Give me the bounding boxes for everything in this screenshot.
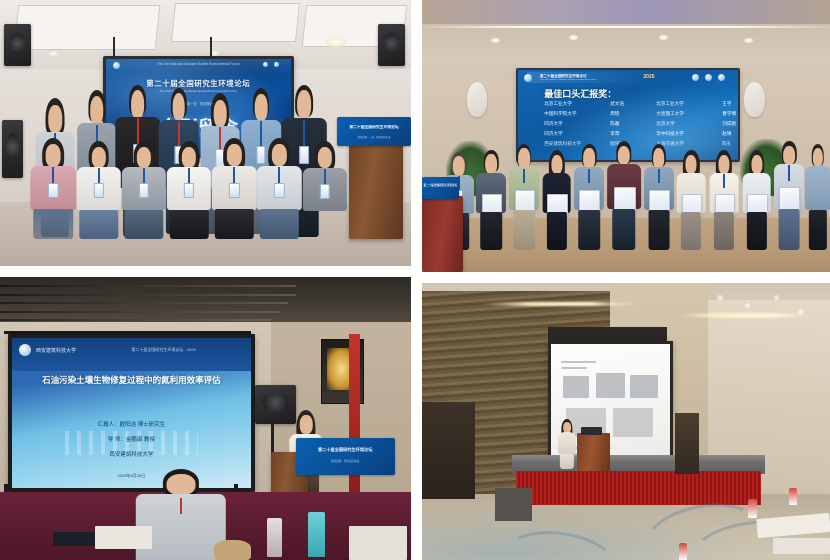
podium-sign-subtitle: 绿色低碳 · 一流 · 同创美好未来 xyxy=(337,135,411,139)
award-org: 北京大学 xyxy=(656,121,722,127)
award-row: 中国科学院大学 周瑶 大连理工大学 曹学博 xyxy=(544,111,736,117)
ceiling-panel xyxy=(171,3,300,42)
photo-bottom-left[interactable]: 西安建筑科技大学 第二十届全国研究生环境论坛 · 2025 石油污染土壤生物修复… xyxy=(0,277,411,560)
slide-title: 石油污染土壤生物修复过程中的氮利用效率评估 xyxy=(12,374,250,386)
paper-stack xyxy=(349,526,407,560)
slide-header xyxy=(12,338,250,371)
award-org: 同济大学 xyxy=(544,131,610,137)
award-org: 大连理工大学 xyxy=(656,111,722,117)
podium xyxy=(577,433,610,472)
slide-figure xyxy=(630,375,658,398)
ceiling-light-strip xyxy=(422,26,830,28)
award-row: 同济大学 李萍 华中科技大学 赵琳 xyxy=(544,131,731,137)
ceiling-spotlight xyxy=(716,294,724,302)
stage-steps xyxy=(495,488,532,521)
slide-figure xyxy=(613,408,653,437)
award-name: 王宇 xyxy=(722,101,731,107)
slide-figure xyxy=(563,376,589,398)
person-standing xyxy=(740,150,773,251)
podium xyxy=(422,196,463,272)
award-org: 中国科学院大学 xyxy=(544,111,610,117)
person-front-row xyxy=(210,138,259,239)
podium-sign-title: 第二十届全国研究生环境论坛 xyxy=(337,125,411,130)
slide-figure xyxy=(596,373,624,397)
person-front-row xyxy=(29,138,78,239)
person-standing xyxy=(803,144,830,250)
award-title: 最佳口头汇报奖： xyxy=(544,87,616,100)
wall-speaker xyxy=(467,82,487,117)
person-standing xyxy=(675,150,708,251)
slide-advisor: 导 师：金鹏康 教授 xyxy=(12,435,250,443)
person-front-row xyxy=(255,138,304,239)
water-bottle xyxy=(748,499,756,518)
award-org: 北京工业大学 xyxy=(656,101,722,107)
water-bottle xyxy=(789,488,797,505)
award-org: 华中科技大学 xyxy=(656,131,722,137)
upper-ceiling-strip xyxy=(422,0,830,24)
person-standing xyxy=(708,150,741,251)
screen-housing xyxy=(548,327,666,341)
award-org: 北京工业大学 xyxy=(544,101,610,107)
screen-frame-top xyxy=(4,331,251,334)
screen-header-sub: The 20th National Graduate Student Envir… xyxy=(540,79,650,81)
podium-sign: 第二十届全国研究生环境论坛 xyxy=(422,177,459,199)
university-logo-icon xyxy=(19,344,31,356)
award-name: 陈磊 xyxy=(610,121,656,127)
person-front-row xyxy=(164,141,213,239)
wall-speaker xyxy=(744,82,764,117)
award-name: 陈礼 xyxy=(722,141,731,147)
person-standing xyxy=(606,141,643,250)
laptop-on-podium xyxy=(581,427,601,435)
doorway xyxy=(422,402,475,499)
podium-sign-title: 第二十届全国研究生环境论坛 xyxy=(422,183,459,187)
ceiling-speaker xyxy=(4,24,31,67)
paper-documents xyxy=(95,526,153,549)
award-name: 曹学博 xyxy=(722,111,736,117)
award-name: 刘成刚 xyxy=(722,121,736,127)
ceiling-speaker xyxy=(378,24,405,67)
award-name: 周瑶 xyxy=(610,111,656,117)
water-bottle xyxy=(267,518,281,558)
floor-speaker xyxy=(2,120,23,179)
water-bottle xyxy=(679,543,687,560)
photo-top-right[interactable]: 第二十届全国研究生环境论坛 The 20th National Graduate… xyxy=(422,0,830,272)
chair-back xyxy=(214,540,251,560)
photo-collage: The 20th National Graduate Student Envir… xyxy=(0,0,830,560)
award-row: 北京工业大学 武文浩 北京工业大学 王宇 xyxy=(544,101,731,107)
ceiling-downlight xyxy=(49,51,58,56)
sponsor-logo-icon xyxy=(705,74,712,81)
sponsor-logo-icon xyxy=(692,74,699,81)
projection-screen: 西安建筑科技大学 第二十届全国研究生环境论坛 · 2025 石油污染土壤生物修复… xyxy=(8,334,254,492)
thermos-bottle xyxy=(308,512,324,557)
podium-sign-title: 第二十届全国研究生环境论坛 xyxy=(296,447,395,453)
photo-bottom-right[interactable] xyxy=(422,283,830,560)
award-name: 李萍 xyxy=(610,131,656,137)
person-standing xyxy=(573,144,606,250)
stage-skirt xyxy=(516,471,761,504)
ceiling xyxy=(0,277,411,325)
slide-session: 第二十届全国研究生环境论坛 · 2025 xyxy=(131,347,245,353)
screen-header-year: 2025 xyxy=(643,74,669,80)
person-front-row xyxy=(119,141,168,239)
person-standing xyxy=(773,141,806,250)
person-presenter xyxy=(557,419,577,469)
award-org: 同济大学 xyxy=(544,121,610,127)
doorway xyxy=(675,413,699,474)
podium-sign-subtitle: 绿色低碳 · 同创美好未来 xyxy=(296,459,395,463)
table-documents xyxy=(773,538,830,555)
screen-header-sub: The 20th National Graduate Student Envir… xyxy=(106,62,291,66)
award-row: 同济大学 陈磊 北京大学 刘成刚 xyxy=(544,121,736,127)
sponsor-logo-icon xyxy=(718,74,725,81)
person-front-row xyxy=(300,141,349,239)
podium xyxy=(349,141,402,239)
person-standing xyxy=(642,144,675,250)
podium-sign: 第二十届全国研究生环境论坛 绿色低碳 · 同创美好未来 xyxy=(296,438,395,475)
person-standing xyxy=(508,144,541,250)
slide-affiliation: 西安建筑科技大学 xyxy=(12,450,250,458)
ceiling-spotlight xyxy=(773,294,780,301)
slide-presenter: 汇报人：欧阳洁 博士研究生 xyxy=(12,420,250,428)
person-front-row xyxy=(74,141,123,239)
award-name: 赵琳 xyxy=(722,131,731,137)
ceiling-panel xyxy=(14,5,160,50)
person-standing xyxy=(475,150,508,251)
photo-top-left[interactable]: The 20th National Graduate Student Envir… xyxy=(0,0,411,266)
award-name: 武文浩 xyxy=(610,101,656,107)
slide-org: 西安建筑科技大学 xyxy=(36,347,122,354)
person-standing xyxy=(540,150,573,251)
podium-sign: 第二十届全国研究生环境论坛 绿色低碳 · 一流 · 同创美好未来 xyxy=(337,117,411,146)
screen-topbar xyxy=(106,59,291,74)
